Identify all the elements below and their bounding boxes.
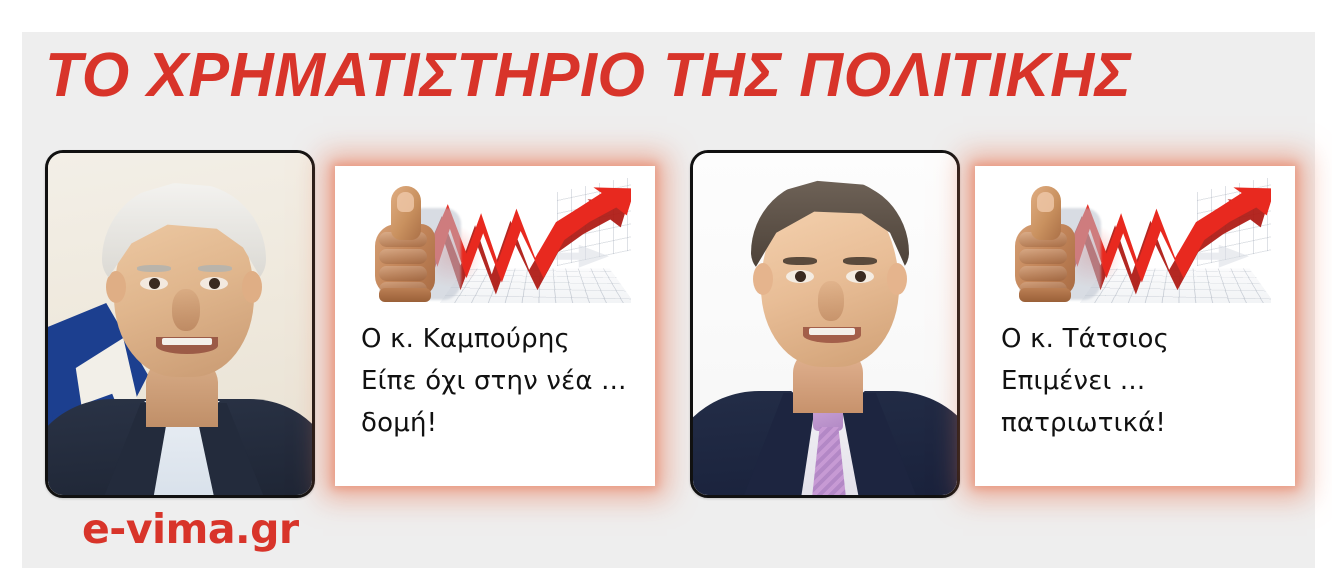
page-title: ΤΟ ΧΡΗΜΑΤΙΣΤΗΡΙΟ ΤΗΣ ΠΟΛΙΤΙΚΗΣ xyxy=(45,42,1286,110)
portrait-1-ear-right xyxy=(242,271,262,303)
quote-card-1-artwork xyxy=(361,178,631,303)
portrait-1-nose xyxy=(172,289,200,331)
portrait-2-teeth xyxy=(809,328,855,335)
quote-card-2-artwork xyxy=(1001,178,1271,303)
quote-2-line-2: Επιμένει ... xyxy=(1001,360,1279,402)
thumbs-up-icon-2 xyxy=(1009,184,1095,300)
portrait-2-pupil-left xyxy=(795,271,806,282)
quote-1-line-2: Είπε όχι στην νέα ... xyxy=(361,360,639,402)
portrait-2-nose xyxy=(818,281,844,321)
site-logo[interactable]: e-vima.gr xyxy=(82,505,299,553)
quote-1-line-1: Ο κ. Καμπούρης xyxy=(361,318,639,360)
thumbs-up-knuckle-7 xyxy=(1019,266,1067,281)
banner-graphic: ΤΟ ΧΡΗΜΑΤΙΣΤΗΡΙΟ ΤΗΣ ΠΟΛΙΤΙΚΗΣ xyxy=(0,0,1332,568)
quote-card-1: Ο κ. Καμπούρης Είπε όχι στην νέα ... δομ… xyxy=(335,166,655,486)
portrait-photo-1 xyxy=(45,150,315,498)
portrait-2-brow-right xyxy=(843,257,877,265)
portrait-2-canvas xyxy=(693,153,957,495)
portrait-1-teeth xyxy=(162,338,212,345)
portrait-1-brow-right xyxy=(198,265,232,272)
portrait-1-pupil-left xyxy=(149,278,160,289)
quote-1-line-3: δομή! xyxy=(361,402,639,444)
portrait-2-pupil-right xyxy=(855,271,866,282)
portrait-1-brow-left xyxy=(137,265,171,272)
portrait-photo-2 xyxy=(690,150,960,498)
quote-2-line-3: πατριωτικά! xyxy=(1001,402,1279,444)
thumbs-up-icon-1 xyxy=(369,184,455,300)
thumbs-up-nail-2 xyxy=(1037,192,1054,212)
quote-2-line-1: Ο κ. Τάτσιος xyxy=(1001,318,1279,360)
quote-card-2-text: Ο κ. Τάτσιος Επιμένει ... πατριωτικά! xyxy=(1001,318,1279,444)
thumbs-up-knuckle-6 xyxy=(1019,249,1067,264)
portrait-2-ear-right xyxy=(887,263,907,295)
thumbs-up-nail-1 xyxy=(397,192,414,212)
quote-card-1-text: Ο κ. Καμπούρης Είπε όχι στην νέα ... δομ… xyxy=(361,318,639,444)
thumbs-up-knuckle-2 xyxy=(379,249,427,264)
thumbs-up-wrist-1 xyxy=(379,288,431,302)
quote-card-2: Ο κ. Τάτσιος Επιμένει ... πατριωτικά! xyxy=(975,166,1295,486)
portrait-2-brow-left xyxy=(783,257,817,265)
portrait-2-ear-left xyxy=(753,263,773,295)
portrait-1-canvas xyxy=(48,153,312,495)
portrait-1-pupil-right xyxy=(209,278,220,289)
thumbs-up-knuckle-3 xyxy=(379,266,427,281)
thumbs-up-wrist-2 xyxy=(1019,288,1071,302)
